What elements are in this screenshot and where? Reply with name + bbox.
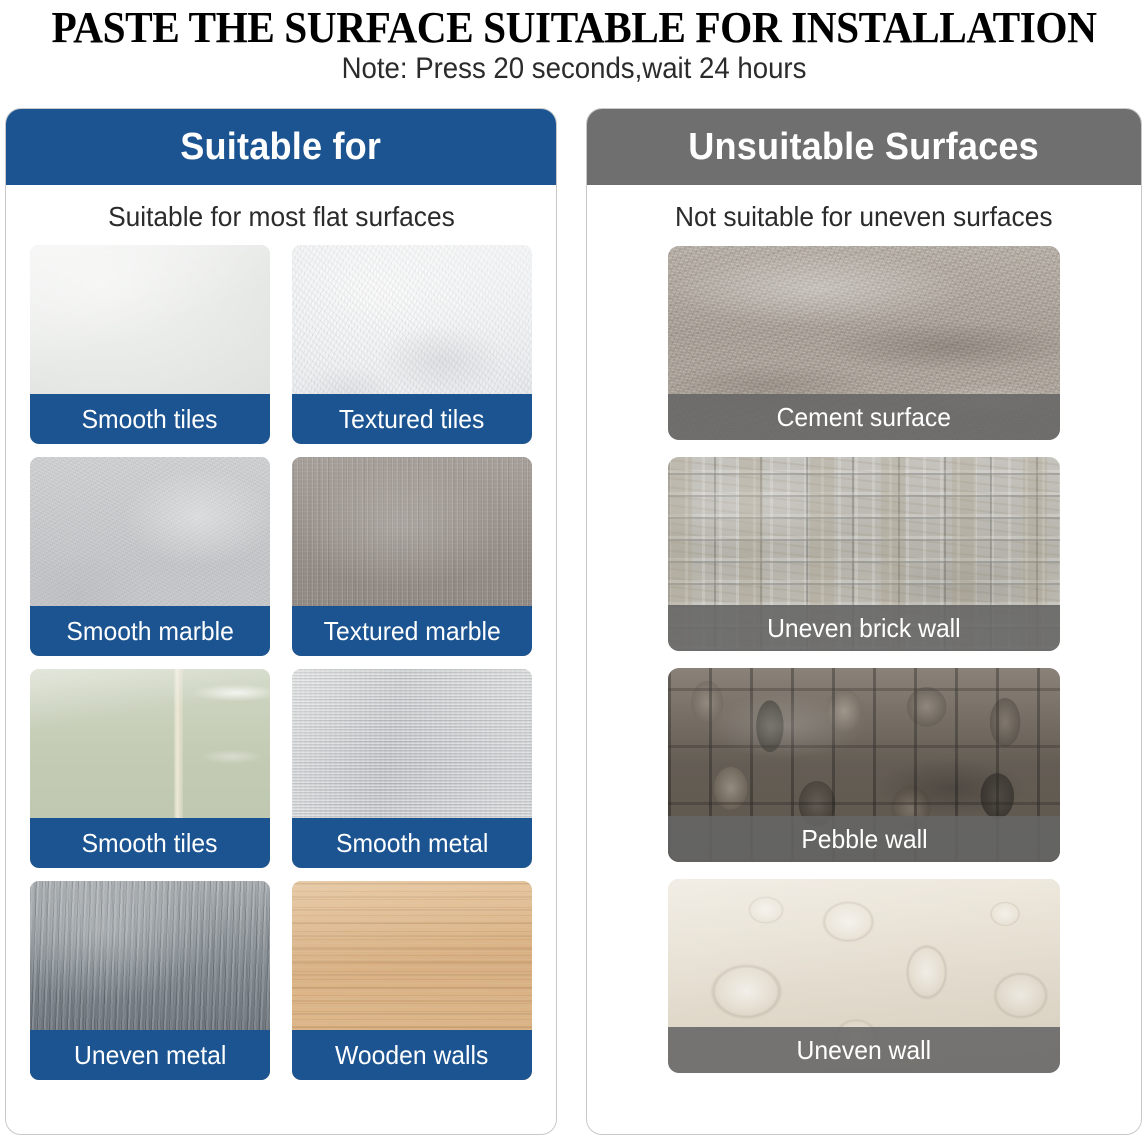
surface-label-bar: Textured tiles — [292, 394, 532, 444]
surface-label: Cement surface — [777, 402, 951, 433]
unsuitable-panel-subheading-row: Not suitable for uneven surfaces — [587, 185, 1141, 243]
suitable-surface-grid: Smooth tilesTextured tilesSmooth marbleT… — [6, 243, 556, 1080]
surface-tile: Smooth tiles — [30, 245, 270, 444]
unsuitable-panel-heading: Unsuitable Surfaces — [689, 126, 1040, 169]
surface-label: Uneven metal — [74, 1040, 226, 1071]
surface-tile: Smooth tiles — [30, 669, 270, 868]
surface-tile: Smooth metal — [292, 669, 532, 868]
surface-label: Textured marble — [323, 616, 500, 647]
surface-tile: Smooth marble — [30, 457, 270, 656]
surface-label-bar: Pebble wall — [668, 816, 1060, 862]
surface-card: Uneven wall — [668, 879, 1060, 1073]
page-title: PASTE THE SURFACE SUITABLE FOR INSTALLAT… — [34, 2, 1113, 53]
surface-label-bar: Smooth tiles — [30, 818, 270, 868]
infographic-root: PASTE THE SURFACE SUITABLE FOR INSTALLAT… — [0, 0, 1148, 1143]
surface-label-bar: Wooden walls — [292, 1030, 532, 1080]
unsuitable-panel-header: Unsuitable Surfaces — [587, 109, 1141, 185]
surface-label: Textured tiles — [339, 404, 485, 435]
surface-label-bar: Uneven brick wall — [668, 605, 1060, 651]
surface-tile: Textured marble — [292, 457, 532, 656]
surface-label-bar: Cement surface — [668, 394, 1060, 440]
page-note: Note: Press 20 seconds,wait 24 hours — [46, 52, 1102, 86]
surface-label-bar: Smooth marble — [30, 606, 270, 656]
surface-tile: Wooden walls — [292, 881, 532, 1080]
surface-label: Uneven brick wall — [767, 613, 961, 644]
unsuitable-panel-subheading: Not suitable for uneven surfaces — [675, 201, 1052, 233]
suitable-panel: Suitable for Suitable for most flat surf… — [5, 108, 557, 1135]
surface-label-bar: Smooth tiles — [30, 394, 270, 444]
suitable-panel-subheading: Suitable for most flat surfaces — [108, 201, 455, 233]
surface-label-bar: Uneven metal — [30, 1030, 270, 1080]
surface-tile: Uneven metal — [30, 881, 270, 1080]
surface-label: Uneven wall — [797, 1035, 932, 1066]
surface-label: Smooth tiles — [82, 828, 218, 859]
unsuitable-surface-list: Cement surfaceUneven brick wallPebble wa… — [587, 243, 1141, 1073]
surface-card: Cement surface — [668, 246, 1060, 440]
surface-label-bar: Smooth metal — [292, 818, 532, 868]
surface-label: Wooden walls — [335, 1040, 488, 1071]
surface-label: Smooth metal — [336, 828, 488, 859]
suitable-panel-subheading-row: Suitable for most flat surfaces — [6, 185, 556, 243]
surface-card: Uneven brick wall — [668, 457, 1060, 651]
surface-label-bar: Uneven wall — [668, 1027, 1060, 1073]
surface-card: Pebble wall — [668, 668, 1060, 862]
suitable-panel-header: Suitable for — [6, 109, 556, 185]
surface-label: Smooth marble — [66, 616, 233, 647]
surface-tile: Textured tiles — [292, 245, 532, 444]
suitable-panel-heading: Suitable for — [181, 126, 382, 169]
unsuitable-panel: Unsuitable Surfaces Not suitable for une… — [586, 108, 1142, 1135]
surface-label-bar: Textured marble — [292, 606, 532, 656]
surface-label: Smooth tiles — [82, 404, 218, 435]
surface-label: Pebble wall — [801, 824, 927, 855]
